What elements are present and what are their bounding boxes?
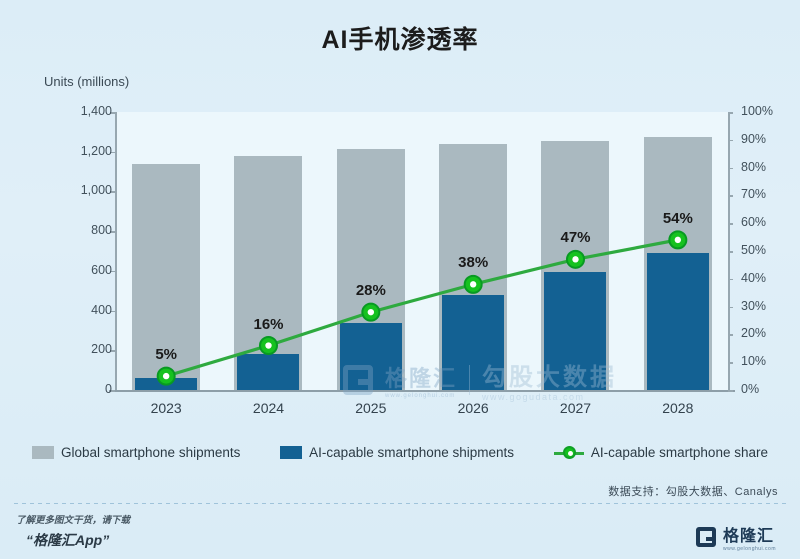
bar-ai-capable-shipments [237, 354, 299, 390]
chart-page: AI手机渗透率 Units (millions) 02004006008001,… [0, 0, 800, 559]
legend-item[interactable]: Global smartphone shipments [32, 445, 240, 460]
right-tick-label: 40% [741, 271, 766, 285]
x-tick-label: 2025 [355, 400, 386, 416]
x-tick-label: 2023 [151, 400, 182, 416]
right-tick-label: 90% [741, 132, 766, 146]
brand-g-icon [696, 527, 716, 547]
left-tick-label: 1,000 [81, 183, 112, 197]
left-tick-label: 600 [91, 263, 112, 277]
legend-label: Global smartphone shipments [61, 445, 240, 460]
chart-panel: Units (millions) 02004006008001,0001,200… [22, 62, 778, 474]
left-tick-label: 1,200 [81, 144, 112, 158]
brand-name: 格隆汇 [723, 522, 774, 546]
watermark-brand-url: www.gelonghui.com [385, 393, 455, 399]
left-tick-label: 0 [105, 382, 112, 396]
left-tick-label: 1,400 [81, 104, 112, 118]
right-tick-label: 100% [741, 104, 773, 118]
share-data-label: 28% [356, 282, 386, 299]
bar-group: 2027 [524, 112, 626, 390]
share-data-label: 16% [253, 316, 283, 333]
legend-swatch-icon [32, 446, 54, 459]
right-tick-label: 30% [741, 299, 766, 313]
page-title: AI手机渗透率 [0, 20, 800, 56]
left-tick-label: 200 [91, 342, 112, 356]
right-tick [728, 390, 733, 392]
brand-url: www.gelonghui.com [723, 546, 776, 552]
right-tick-label: 80% [741, 160, 766, 174]
left-tick-label: 800 [91, 223, 112, 237]
bar-ai-capable-shipments [544, 272, 606, 390]
x-tick-label: 2028 [662, 400, 693, 416]
plot-area: 02004006008001,0001,2001,400 0%10%20%30%… [115, 112, 729, 390]
bar-group: 2028 [627, 112, 729, 390]
share-data-label: 47% [560, 229, 590, 246]
right-tick-label: 0% [741, 382, 759, 396]
share-data-label: 38% [458, 254, 488, 271]
legend-swatch-icon [280, 446, 302, 459]
bar-ai-capable-shipments [135, 378, 197, 390]
share-data-label: 5% [155, 346, 177, 363]
right-tick-label: 60% [741, 215, 766, 229]
legend-line-dot-icon [554, 446, 584, 460]
bar-ai-capable-shipments [647, 253, 709, 390]
chart-legend: Global smartphone shipmentsAI-capable sm… [26, 445, 774, 460]
bar-ai-capable-shipments [442, 295, 504, 390]
right-tick-label: 20% [741, 326, 766, 340]
legend-item[interactable]: AI-capable smartphone shipments [280, 445, 514, 460]
right-tick-label: 10% [741, 354, 766, 368]
x-tick-label: 2026 [458, 400, 489, 416]
legend-label: AI-capable smartphone share [591, 445, 768, 460]
x-tick-label: 2027 [560, 400, 591, 416]
left-tick-label: 400 [91, 303, 112, 317]
right-tick-label: 50% [741, 243, 766, 257]
footer-divider [14, 503, 786, 504]
share-data-label: 54% [663, 210, 693, 227]
legend-item[interactable]: AI-capable smartphone share [554, 445, 768, 460]
bar-group: 2024 [217, 112, 319, 390]
bar-ai-capable-shipments [340, 323, 402, 390]
footer-app-name: “格隆汇App” [26, 530, 109, 550]
footer-brand: 格隆汇 www.gelonghui.com [696, 522, 776, 552]
legend-label: AI-capable smartphone shipments [309, 445, 514, 460]
y-axis-title: Units (millions) [44, 74, 129, 89]
x-tick-label: 2024 [253, 400, 284, 416]
source-note: 数据支持：勾股大数据、Canalys [608, 483, 778, 499]
bar-group: 2025 [320, 112, 422, 390]
right-tick-label: 70% [741, 187, 766, 201]
bar-group: 2026 [422, 112, 524, 390]
footer-note: 了解更多图文干货，请下载 [16, 512, 130, 526]
x-axis-line [109, 390, 735, 392]
